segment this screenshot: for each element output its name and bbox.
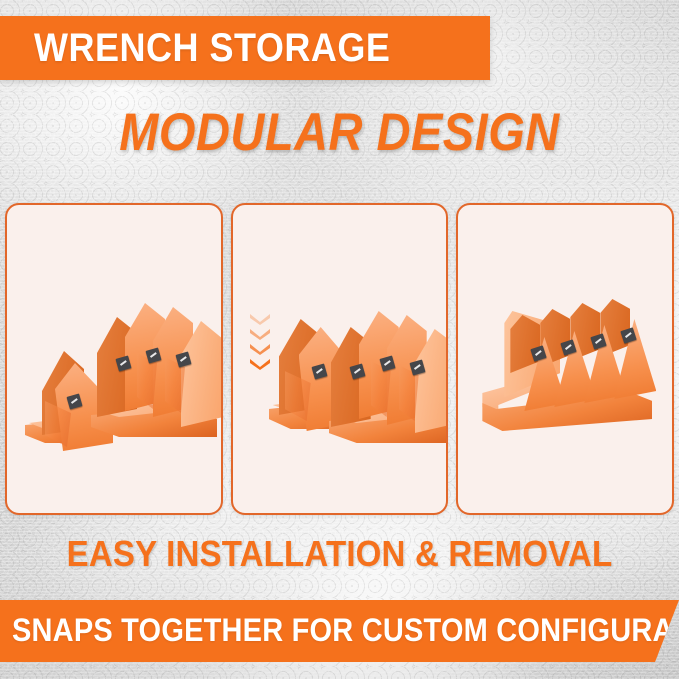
page-title: MODULAR DESIGN <box>0 101 679 163</box>
product-illustration-separate <box>7 205 221 513</box>
organizer-piece-triple <box>91 295 223 455</box>
panel-snapping-together <box>231 203 449 515</box>
product-illustration-assembled <box>458 205 672 513</box>
chevron-down-icon-1 <box>249 313 271 324</box>
chevron-down-icon-3 <box>249 343 271 354</box>
panel-assembled-unit <box>456 203 674 515</box>
product-infographic: WRENCH STORAGE MODULAR DESIGN <box>0 0 679 679</box>
chevron-down-icon-2 <box>249 328 271 339</box>
header-banner-label: WRENCH STORAGE <box>0 25 390 71</box>
product-illustration-snapping <box>233 205 447 513</box>
header-banner: WRENCH STORAGE <box>0 16 490 80</box>
organizer-assembled <box>482 293 658 443</box>
panel-row <box>5 203 674 515</box>
chevron-down-icon-4 <box>249 358 271 369</box>
panel-separate-pieces <box>5 203 223 515</box>
footer-banner-label: SNAPS TOGETHER FOR CUSTOM CONFIGURATIONS <box>0 613 679 650</box>
footer-banner: SNAPS TOGETHER FOR CUSTOM CONFIGURATIONS <box>0 600 679 662</box>
subtitle: EASY INSTALLATION & REMOVAL <box>0 533 679 575</box>
organizer-piece-triple <box>329 301 449 461</box>
